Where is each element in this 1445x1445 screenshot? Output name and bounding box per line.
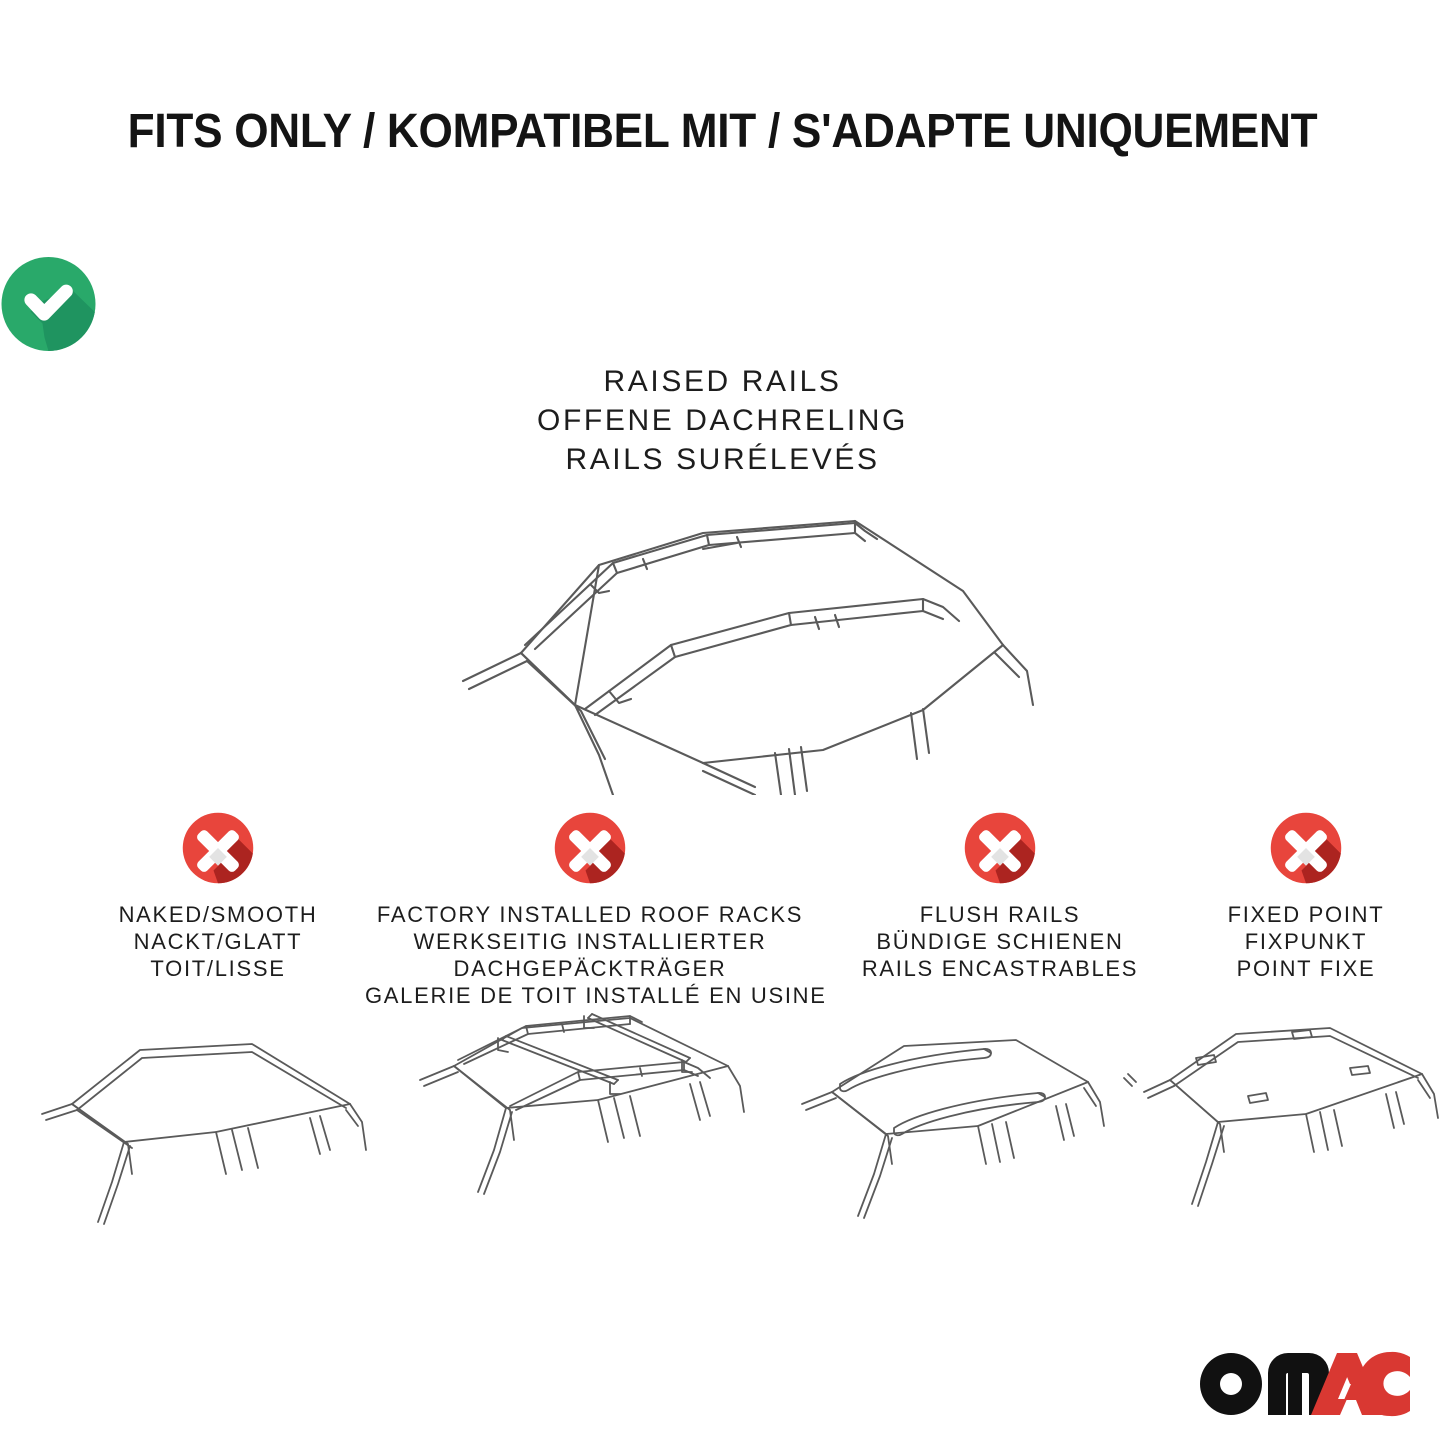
compatibility-infographic: FITS ONLY / KOMPATIBEL MIT / S'ADAPTE UN… xyxy=(0,0,1445,1445)
page-title: FITS ONLY / KOMPATIBEL MIT / S'ADAPTE UN… xyxy=(58,104,1387,159)
incompatible-label-line-3: TOIT/LISSE xyxy=(43,955,393,982)
incompatible-label-line-3: POINT FIXE xyxy=(1175,955,1437,982)
car-roof-naked-smooth-illustration xyxy=(20,1022,370,1252)
incompatible-label-line-3: DACHGEPÄCKTRÄGER xyxy=(365,955,815,982)
incompatible-label-line-1: FLUSH RAILS xyxy=(825,901,1175,928)
compatible-label-group: RAISED RAILS OFFENE DACHRELING RAILS SUR… xyxy=(0,362,1445,479)
cross-circle-icon xyxy=(1270,812,1342,884)
incompatible-item-flush-rails: FLUSH RAILS BÜNDIGE SCHIENEN RAILS ENCAS… xyxy=(825,812,1175,982)
car-roof-raised-rails-illustration xyxy=(403,495,1043,800)
incompatible-label-line-1: NAKED/SMOOTH xyxy=(43,901,393,928)
incompatible-label-line-1: FIXED POINT xyxy=(1175,901,1437,928)
cross-circle-icon xyxy=(554,812,626,884)
car-roof-factory-roof-racks-illustration xyxy=(398,1008,748,1248)
incompatible-label-group: FACTORY INSTALLED ROOF RACKS WERKSEITIG … xyxy=(365,901,815,1009)
incompatible-label-line-2: NACKT/GLATT xyxy=(43,928,393,955)
incompatible-label-group: NAKED/SMOOTH NACKT/GLATT TOIT/LISSE xyxy=(43,901,393,982)
incompatible-label-line-4: GALERIE DE TOIT INSTALLÉ EN USINE xyxy=(365,982,815,1009)
incompatible-label-line-3: RAILS ENCASTRABLES xyxy=(825,955,1175,982)
compatible-label-line-1: RAISED RAILS xyxy=(0,362,1445,401)
compatible-label-line-2: OFFENE DACHRELING xyxy=(0,401,1445,440)
incompatible-label-group: FIXED POINT FIXPUNKT POINT FIXE xyxy=(1175,901,1437,982)
car-roof-flush-rails-illustration xyxy=(788,1022,1138,1252)
incompatible-label-line-2: WERKSEITIG INSTALLIERTER xyxy=(365,928,815,955)
incompatible-label-line-2: FIXPUNKT xyxy=(1175,928,1437,955)
cross-circle-icon xyxy=(964,812,1036,884)
incompatible-label-group: FLUSH RAILS BÜNDIGE SCHIENEN RAILS ENCAS… xyxy=(825,901,1175,982)
compatible-label-line-3: RAILS SURÉLEVÉS xyxy=(0,440,1445,479)
check-circle-icon xyxy=(0,256,1445,352)
car-roof-fixed-point-illustration xyxy=(1140,1018,1445,1251)
incompatible-label-line-2: BÜNDIGE SCHIENEN xyxy=(825,928,1175,955)
incompatible-item-fixed-point: FIXED POINT FIXPUNKT POINT FIXE xyxy=(1175,812,1437,982)
logo-letter-o xyxy=(1200,1353,1262,1415)
incompatible-item-naked-smooth: NAKED/SMOOTH NACKT/GLATT TOIT/LISSE xyxy=(43,812,393,982)
incompatible-label-line-1: FACTORY INSTALLED ROOF RACKS xyxy=(365,901,815,928)
incompatible-item-factory-roof-racks: FACTORY INSTALLED ROOF RACKS WERKSEITIG … xyxy=(365,812,815,1009)
omac-logo xyxy=(1198,1351,1412,1417)
cross-circle-icon xyxy=(182,812,254,884)
